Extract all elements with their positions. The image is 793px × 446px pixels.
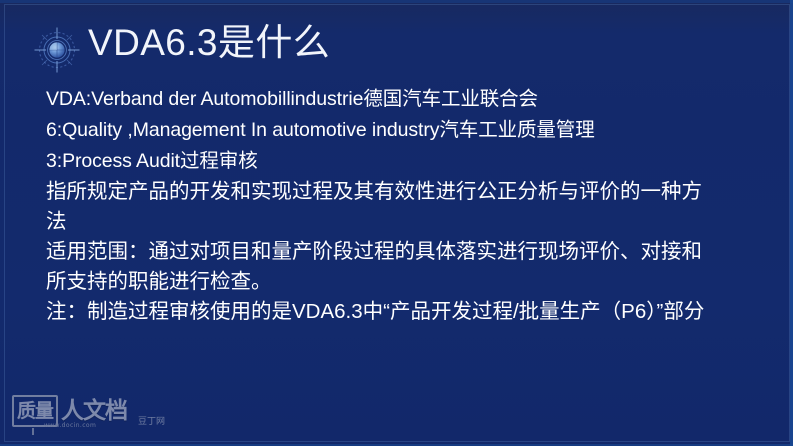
page-title: VDA6.3是什么	[88, 20, 330, 66]
watermark-tick-mark	[32, 428, 34, 435]
slide-body: VDA:Verband der Automobillindustrie德国汽车工…	[46, 84, 714, 327]
body-line-3: 3:Process Audit过程审核	[46, 146, 714, 177]
watermark-word-text: 人文档	[61, 400, 127, 423]
body-line-definition: 指所规定产品的开发和实现过程及其有效性进行公正分析与评价的一种方法	[46, 177, 714, 237]
watermark-url: www.docin.com	[44, 422, 96, 429]
slide-title-row: VDA6.3是什么	[0, 14, 793, 76]
body-line-note: 注：制造过程审核使用的是VDA6.3中“产品开发过程/批量生产（P6）”部分	[46, 297, 714, 327]
watermark-tail: 豆丁网	[138, 414, 165, 427]
watermark-badge: 质量 人文档	[12, 396, 127, 426]
slide-top-edge	[0, 0, 793, 3]
watermark-badge-text: 质量	[12, 395, 58, 427]
watermark-logo: 质量 人文档 www.docin.com 豆丁网	[10, 394, 192, 438]
body-line-6: 6:Quality ,Management In automotive indu…	[46, 115, 714, 146]
body-line-vda: VDA:Verband der Automobillindustrie德国汽车工…	[46, 84, 714, 115]
crosshair-target-icon	[33, 26, 81, 74]
presentation-slide: VDA6.3是什么 VDA:Verband der Automobillindu…	[0, 0, 793, 446]
body-line-scope: 适用范围：通过对项目和量产阶段过程的具体落实进行现场评价、对接和所支持的职能进行…	[46, 237, 714, 297]
